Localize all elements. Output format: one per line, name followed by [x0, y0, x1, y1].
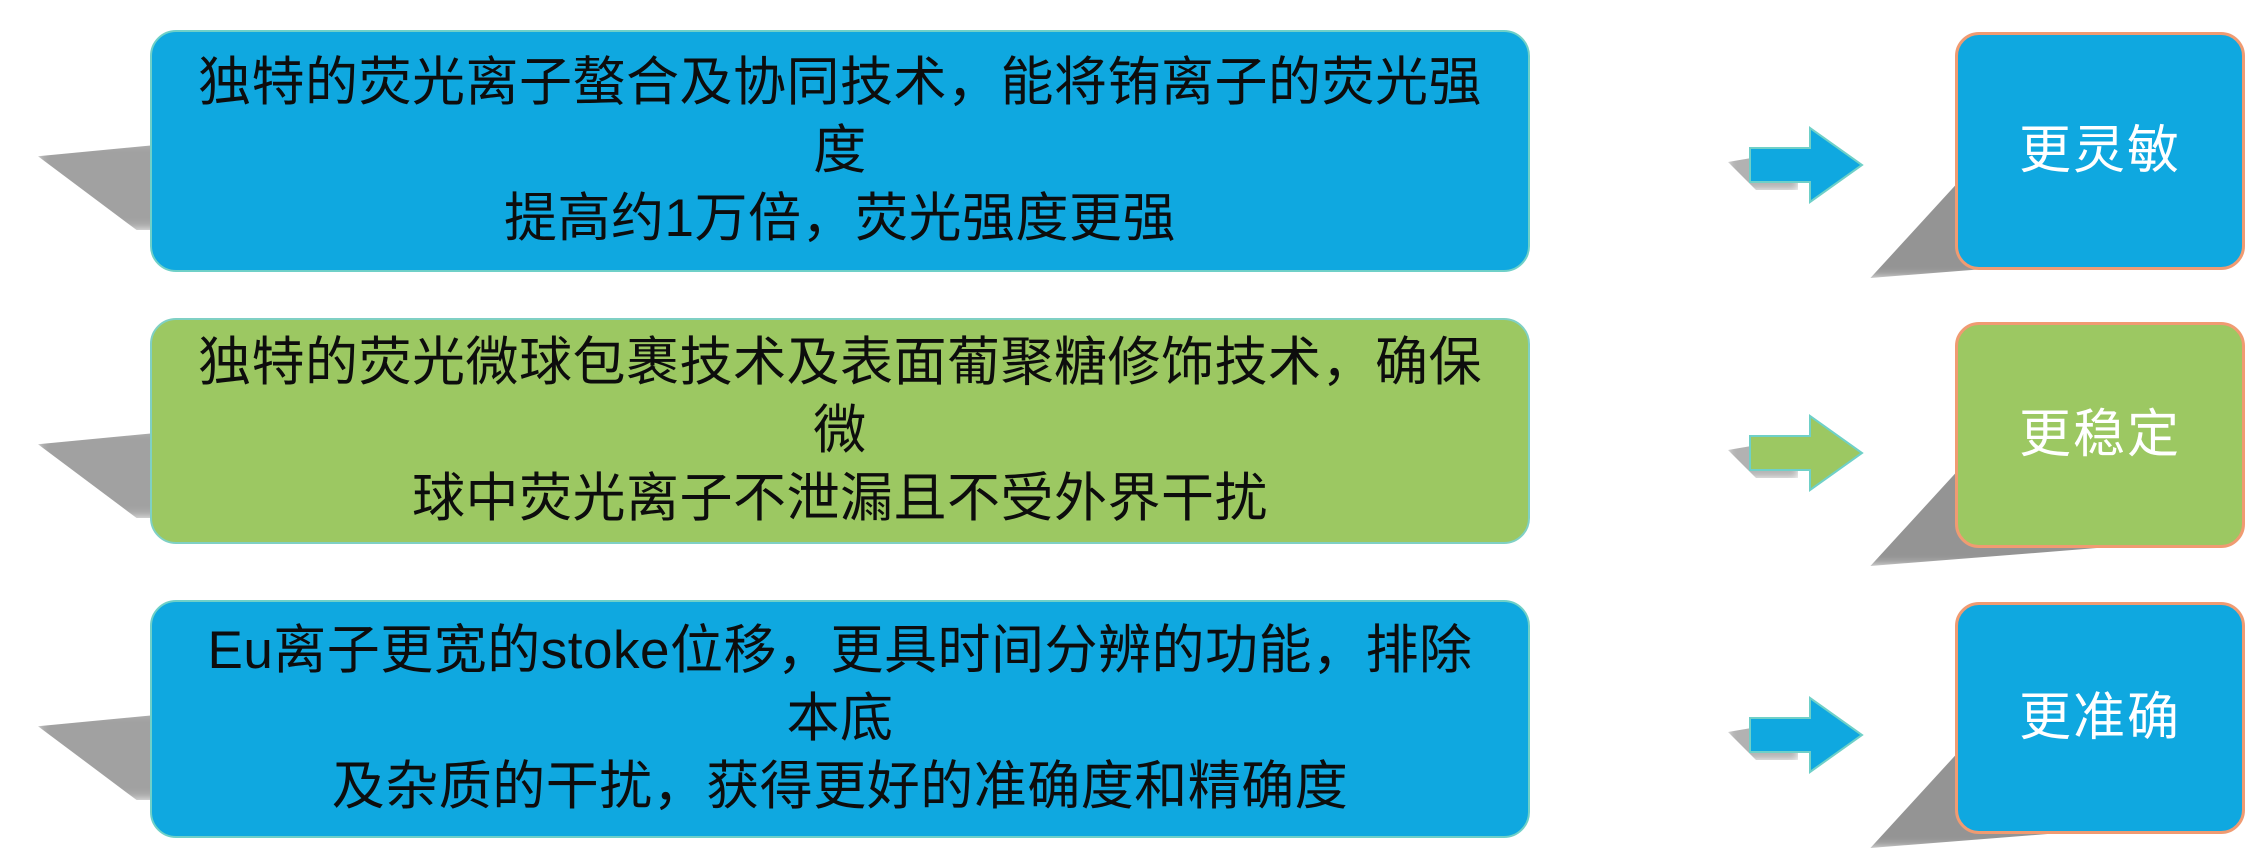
feature-description-box[interactable]: Eu离子更宽的stoke位移，更具时间分辨的功能，排除本底 及杂质的干扰，获得更… — [150, 600, 1530, 838]
feature-description-text: 独特的荧光微球包裹技术及表面葡聚糖修饰技术，确保微 球中荧光离子不泄漏且不受外界… — [152, 329, 1528, 532]
benefit-tag-label: 更稳定 — [2019, 404, 2181, 466]
arrow-right-icon — [1748, 122, 1864, 208]
benefit-tag-box[interactable]: 更灵敏 — [1955, 32, 2245, 270]
feature-description-text: Eu离子更宽的stoke位移，更具时间分辨的功能，排除本底 及杂质的干扰，获得更… — [152, 617, 1528, 820]
arrow-right-icon — [1748, 410, 1864, 496]
arrow-right-icon — [1748, 692, 1864, 778]
benefit-tag-label: 更准确 — [2019, 687, 2181, 749]
feature-description-box[interactable]: 独特的荧光离子螯合及协同技术，能将铕离子的荧光强度 提高约1万倍，荧光强度更强 — [150, 30, 1530, 272]
benefit-tag-box[interactable]: 更稳定 — [1955, 322, 2245, 548]
diagram-canvas: 独特的荧光离子螯合及协同技术，能将铕离子的荧光强度 提高约1万倍，荧光强度更强 … — [0, 0, 2264, 867]
diagram-row: Eu离子更宽的stoke位移，更具时间分辨的功能，排除本底 及杂质的干扰，获得更… — [0, 600, 2264, 868]
benefit-tag-box[interactable]: 更准确 — [1955, 602, 2245, 834]
diagram-row: 独特的荧光微球包裹技术及表面葡聚糖修饰技术，确保微 球中荧光离子不泄漏且不受外界… — [0, 318, 2264, 586]
feature-description-box[interactable]: 独特的荧光微球包裹技术及表面葡聚糖修饰技术，确保微 球中荧光离子不泄漏且不受外界… — [150, 318, 1530, 544]
benefit-tag-label: 更灵敏 — [2019, 120, 2181, 182]
diagram-row: 独特的荧光离子螯合及协同技术，能将铕离子的荧光强度 提高约1万倍，荧光强度更强 … — [0, 30, 2264, 298]
feature-description-text: 独特的荧光离子螯合及协同技术，能将铕离子的荧光强度 提高约1万倍，荧光强度更强 — [152, 49, 1528, 252]
